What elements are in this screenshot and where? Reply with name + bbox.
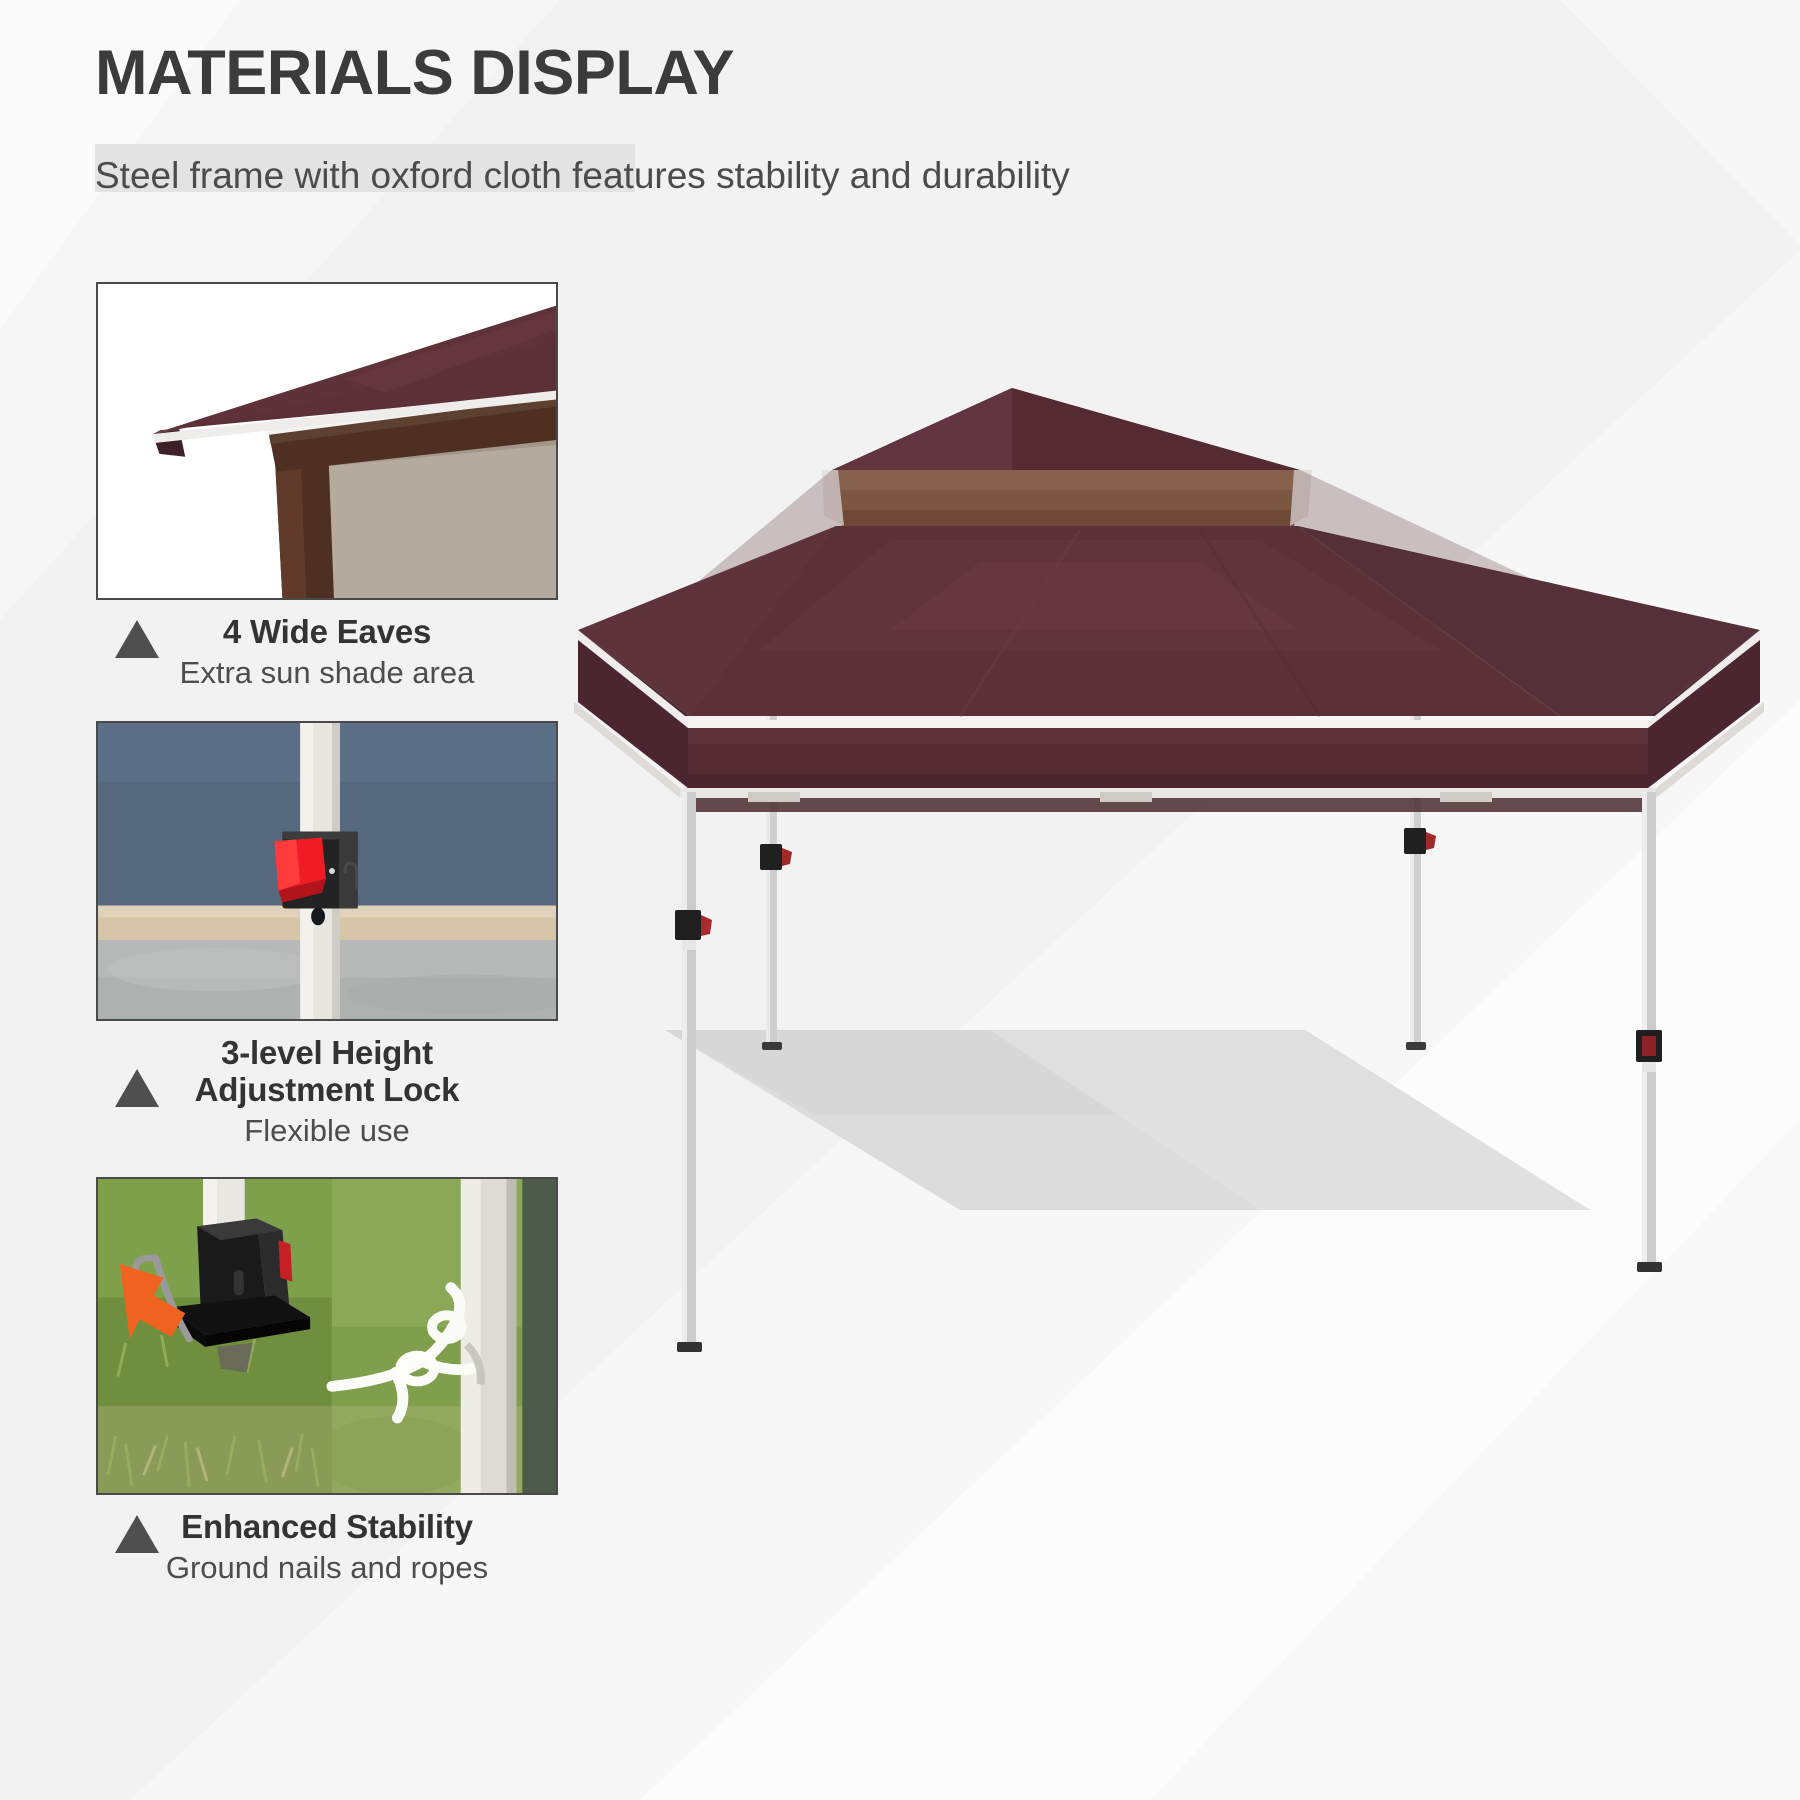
leg-foot (677, 1342, 702, 1352)
triangle-up-icon (115, 1515, 159, 1553)
feature-caption: Enhanced Stability Ground nails and rope… (96, 1495, 558, 1586)
feature-title-line2: Adjustment Lock (96, 1071, 558, 1109)
feature-caption: 3-level Height Adjustment Lock Flexible … (96, 1021, 558, 1149)
page-header: MATERIALS DISPLAY Steel frame with oxfor… (95, 42, 1070, 197)
page-subtitle: Steel frame with oxford cloth features s… (95, 155, 1070, 197)
triangle-up-icon (115, 1069, 159, 1107)
feature-list: 4 Wide Eaves Extra sun shade area (96, 282, 558, 1608)
eave-closeup-photo (96, 282, 558, 600)
feature-item-wide-eaves: 4 Wide Eaves Extra sun shade area (96, 282, 558, 691)
page-title: MATERIALS DISPLAY (95, 42, 1070, 105)
height-lock-box (1404, 828, 1426, 854)
stability-closeup-photo (96, 1177, 558, 1495)
feature-title-line1: 3-level Height (96, 1034, 558, 1072)
canopy-roof (574, 388, 1764, 812)
feature-subtitle: Ground nails and ropes (96, 1549, 558, 1586)
leg-front-left (675, 792, 712, 1352)
feature-title: Enhanced Stability (96, 1508, 558, 1546)
leg-foot (1637, 1262, 1662, 1272)
height-lock-box (675, 910, 701, 940)
pop-up-gazebo-canopy (560, 330, 1790, 1440)
triangle-up-icon (115, 620, 159, 658)
feature-title: 4 Wide Eaves (96, 613, 558, 651)
feature-caption: 4 Wide Eaves Extra sun shade area (96, 600, 558, 691)
feature-subtitle: Flexible use (96, 1112, 558, 1149)
feature-item-height-lock: 3-level Height Adjustment Lock Flexible … (96, 721, 558, 1149)
feature-item-stability: Enhanced Stability Ground nails and rope… (96, 1177, 558, 1586)
height-lock-box (760, 844, 782, 870)
height-lock-closeup-photo (96, 721, 558, 1021)
leg-front-right (1636, 792, 1662, 1272)
feature-subtitle: Extra sun shade area (96, 654, 558, 691)
